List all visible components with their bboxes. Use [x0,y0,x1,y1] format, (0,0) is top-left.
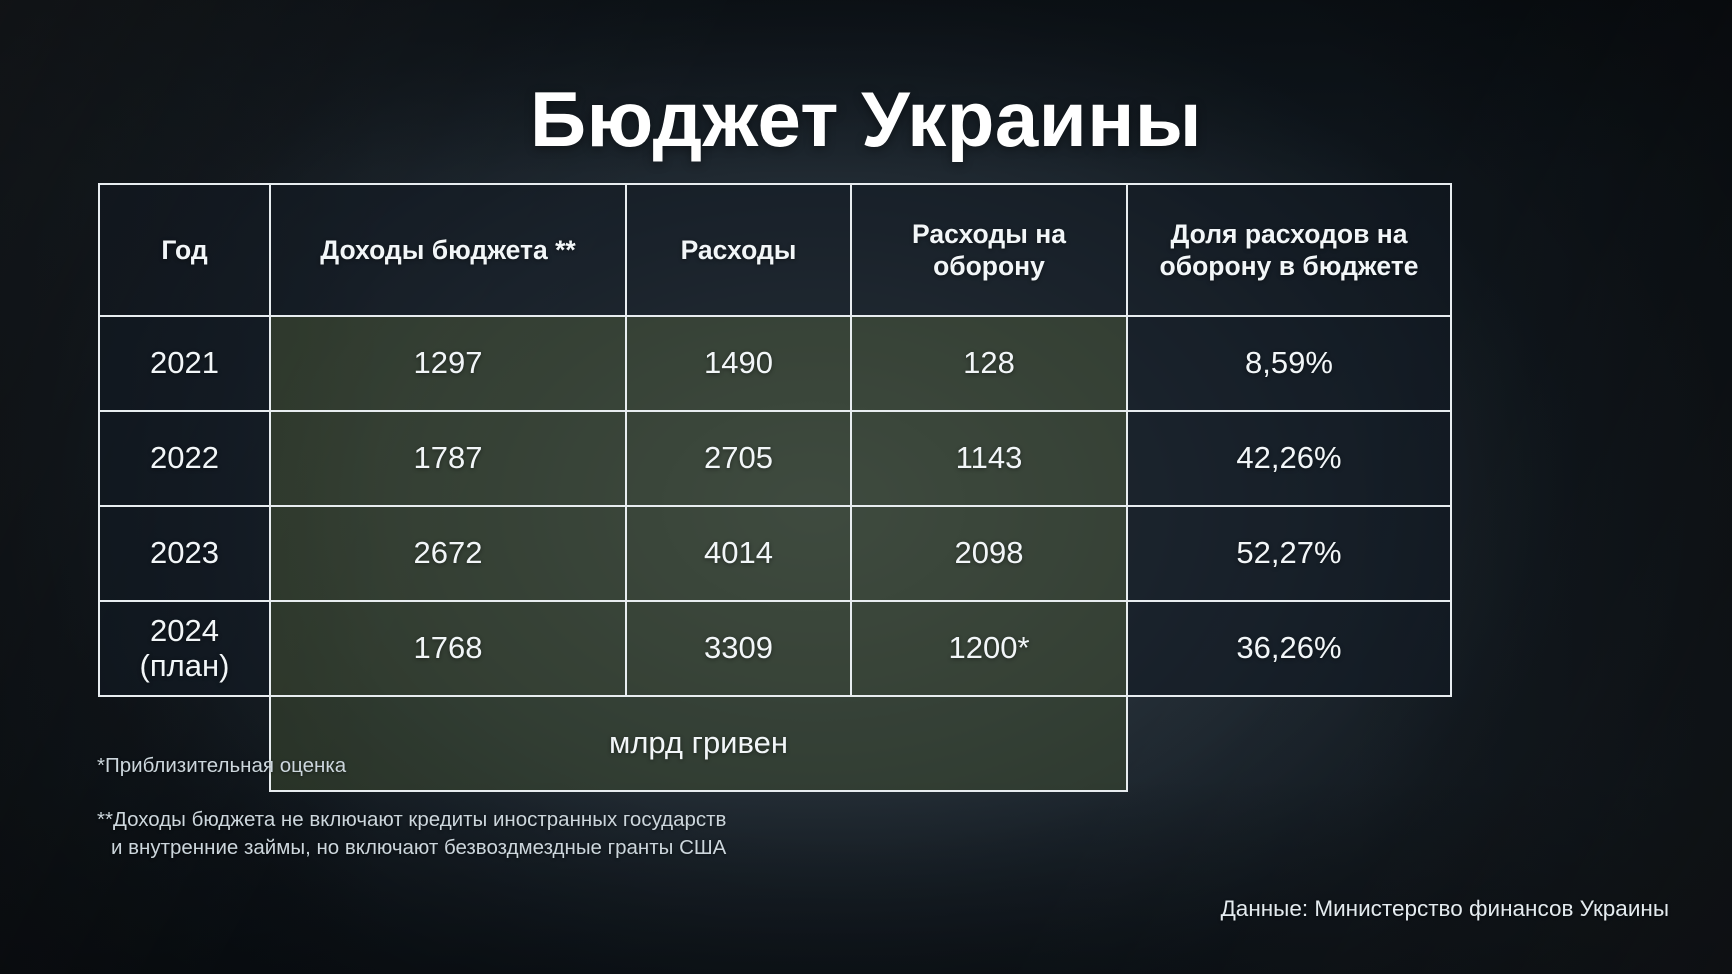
cell-revenue: 1768 [270,601,626,696]
budget-table: Год Доходы бюджета ** Расходы Расходы на… [98,183,1452,792]
page-title: Бюджет Украины [0,76,1732,163]
cell-defense-share: 8,59% [1127,316,1451,411]
cell-year: 2023 [99,506,270,601]
cell-revenue: 1297 [270,316,626,411]
footnote-revenue-definition-line1: **Доходы бюджета не включают кредиты ино… [97,808,726,831]
unit-row-spacer-right [1127,696,1451,791]
footnotes: *Приблизительная оценка **Доходы бюджета… [97,752,997,862]
cell-expenses: 2705 [626,411,851,506]
table-header: Год Доходы бюджета ** Расходы Расходы на… [99,184,1451,316]
table-row: 2021 1297 1490 128 8,59% [99,316,1451,411]
cell-defense: 1143 [851,411,1127,506]
column-header-expenses: Расходы [626,184,851,316]
cell-year: 2024 (план) [99,601,270,696]
cell-expenses: 3309 [626,601,851,696]
table-body: 2021 1297 1490 128 8,59% 2022 1787 2705 … [99,316,1451,791]
footnote-revenue-definition-line2: и внутренние займы, но включают безвоздм… [97,834,997,862]
cell-defense: 1200* [851,601,1127,696]
table-row: 2024 (план) 1768 3309 1200* 36,26% [99,601,1451,696]
cell-defense-share: 42,26% [1127,411,1451,506]
cell-defense-share: 52,27% [1127,506,1451,601]
table-row: 2023 2672 4014 2098 52,27% [99,506,1451,601]
column-header-revenue: Доходы бюджета ** [270,184,626,316]
cell-expenses: 4014 [626,506,851,601]
cell-defense: 2098 [851,506,1127,601]
cell-year: 2021 [99,316,270,411]
cell-revenue: 2672 [270,506,626,601]
source-attribution: Данные: Министерство финансов Украины [1221,896,1669,922]
cell-year: 2022 [99,411,270,506]
footnote-approximate-estimate: *Приблизительная оценка [97,752,997,780]
cell-revenue: 1787 [270,411,626,506]
footnote-revenue-definition: **Доходы бюджета не включают кредиты ино… [97,806,997,862]
cell-defense-share: 36,26% [1127,601,1451,696]
cell-year-note: (план) [100,649,269,684]
cell-defense: 128 [851,316,1127,411]
table-header-row: Год Доходы бюджета ** Расходы Расходы на… [99,184,1451,316]
cell-expenses: 1490 [626,316,851,411]
column-header-year: Год [99,184,270,316]
cell-year-value: 2024 [150,613,219,648]
table-row: 2022 1787 2705 1143 42,26% [99,411,1451,506]
column-header-defense: Расходы на оборону [851,184,1127,316]
column-header-defense-share: Доля расходов на оборону в бюджете [1127,184,1451,316]
